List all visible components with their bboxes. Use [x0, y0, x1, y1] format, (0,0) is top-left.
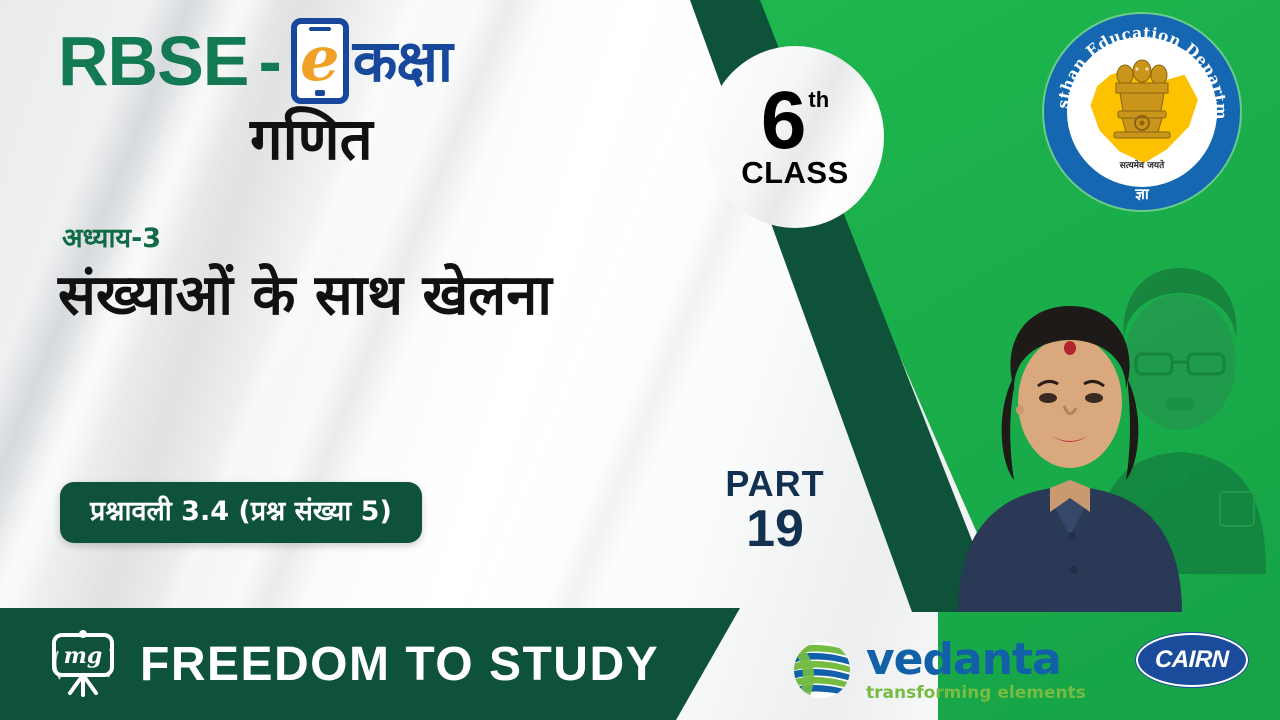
- platform-word: कक्षा: [353, 32, 452, 90]
- subject-title: गणित: [250, 108, 373, 172]
- part-indicator: PART 19: [700, 466, 850, 557]
- sponsor-cairn: CAIRN: [1136, 633, 1248, 687]
- brand-separator: -: [258, 26, 280, 96]
- presenters-photo: [938, 228, 1280, 612]
- ashoka-emblem-icon: [1106, 53, 1178, 149]
- brand-header: RBSE - e कक्षा: [58, 18, 452, 104]
- vedanta-globe-icon: [790, 638, 854, 702]
- class-word: CLASS: [741, 155, 849, 191]
- logo-bottom-mark: ज्ञा: [1135, 184, 1149, 204]
- class-number: 6: [761, 83, 807, 158]
- class-number-row: 6 th: [761, 83, 829, 158]
- vedanta-tagline: transforming elements: [866, 685, 1086, 702]
- class-badge: 6 th CLASS: [706, 46, 884, 228]
- cairn-wordmark: CAIRN: [1155, 646, 1229, 674]
- vedanta-wordmark: vedanta transforming elements: [866, 638, 1086, 702]
- board-name: RBSE: [58, 26, 248, 96]
- sponsor-vedanta: vedanta transforming elements: [790, 638, 1086, 702]
- chapter-label: अध्याय-3: [62, 218, 161, 255]
- rajasthan-education-department-logo: Rajasthan Education Department: [1044, 14, 1240, 210]
- ekaksha-logo: e कक्षा: [291, 18, 452, 104]
- footer-tagline: FREEDOM TO STUDY: [140, 637, 659, 692]
- mg-brand-icon: mg: [44, 627, 122, 701]
- exercise-badge: प्रश्नावली 3.4 (प्रश्न संख्या 5): [60, 482, 422, 543]
- page-title: संख्याओं के साथ खेलना: [58, 262, 618, 330]
- platform-e-letter: e: [300, 28, 339, 90]
- presenter-female-avatar: [952, 284, 1188, 612]
- logo-inner-disc: सत्यमेव जयते: [1067, 37, 1217, 187]
- part-number: 19: [700, 502, 850, 557]
- logo-motto: सत्यमेव जयते: [1120, 158, 1164, 171]
- class-ordinal: th: [808, 89, 829, 111]
- mg-monogram: mg: [64, 643, 103, 669]
- vedanta-name: vedanta: [866, 638, 1086, 682]
- thumbnail-canvas: RBSE - e कक्षा गणित अध्याय-3 संख्याओं के…: [0, 0, 1280, 720]
- smartphone-icon: e: [291, 18, 349, 104]
- part-label: PART: [700, 466, 850, 502]
